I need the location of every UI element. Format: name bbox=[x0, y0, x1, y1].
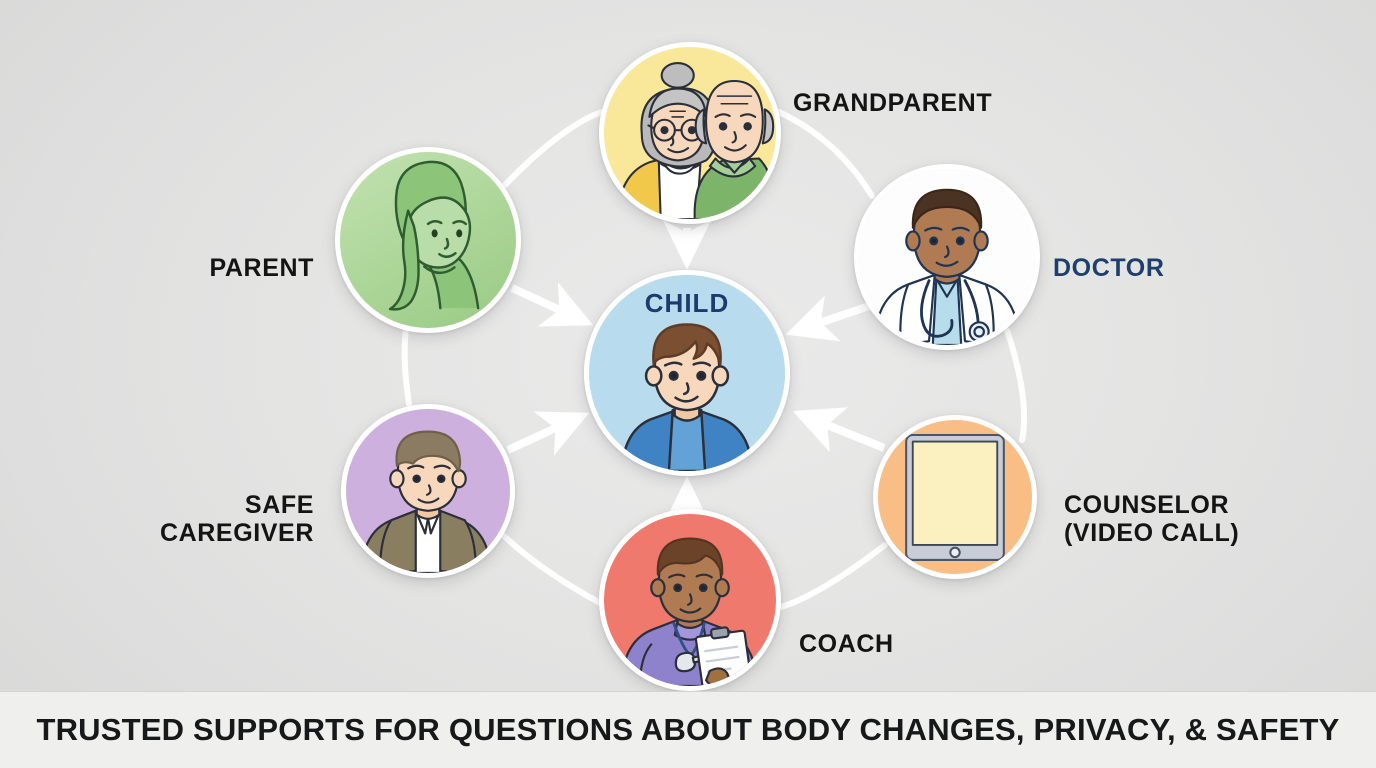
label-grandparent-text: GRANDPARENT bbox=[793, 89, 992, 117]
video-call-tablet bbox=[906, 435, 1004, 560]
label-safe-caregiver-text: SAFE CAREGIVER bbox=[160, 491, 314, 547]
parent-illustration bbox=[340, 152, 516, 328]
node-coach[interactable] bbox=[599, 509, 781, 691]
label-safe-caregiver: SAFE CAREGIVER bbox=[34, 463, 314, 547]
arrow-counselor-to-child bbox=[800, 414, 884, 448]
grandparent-illustration bbox=[604, 47, 776, 219]
doctor-illustration bbox=[859, 169, 1035, 345]
label-counselor: COUNSELOR (VIDEO CALL) bbox=[1064, 463, 1376, 547]
counselor-illustration bbox=[878, 420, 1032, 574]
label-coach-text: COACH bbox=[799, 630, 894, 658]
label-doctor: DOCTOR bbox=[1053, 226, 1333, 282]
safe-caregiver-illustration bbox=[346, 409, 510, 573]
arrow-parent-to-child bbox=[512, 288, 586, 322]
child-title: CHILD bbox=[582, 288, 792, 319]
label-grandparent: GRANDPARENT bbox=[793, 61, 1123, 117]
caption-text: TRUSTED SUPPORTS FOR QUESTIONS ABOUT BOD… bbox=[36, 712, 1339, 748]
node-parent[interactable] bbox=[335, 147, 521, 333]
coach-illustration bbox=[604, 514, 776, 686]
label-counselor-text: COUNSELOR (VIDEO CALL) bbox=[1064, 491, 1239, 547]
caption-bar: TRUSTED SUPPORTS FOR QUESTIONS ABOUT BOD… bbox=[0, 691, 1376, 768]
diagram-canvas: PARENT bbox=[0, 0, 1376, 768]
arrow-caregiver-to-child bbox=[508, 416, 582, 450]
node-grandparent[interactable] bbox=[599, 42, 781, 224]
label-parent-text: PARENT bbox=[209, 254, 314, 282]
node-safe-caregiver[interactable] bbox=[341, 404, 515, 578]
arrow-doctor-to-child bbox=[793, 305, 872, 332]
node-doctor[interactable] bbox=[854, 164, 1040, 350]
label-coach: COACH bbox=[799, 602, 1059, 658]
node-counselor[interactable] bbox=[873, 415, 1037, 579]
label-parent: PARENT bbox=[64, 226, 314, 282]
label-doctor-text: DOCTOR bbox=[1053, 254, 1164, 282]
